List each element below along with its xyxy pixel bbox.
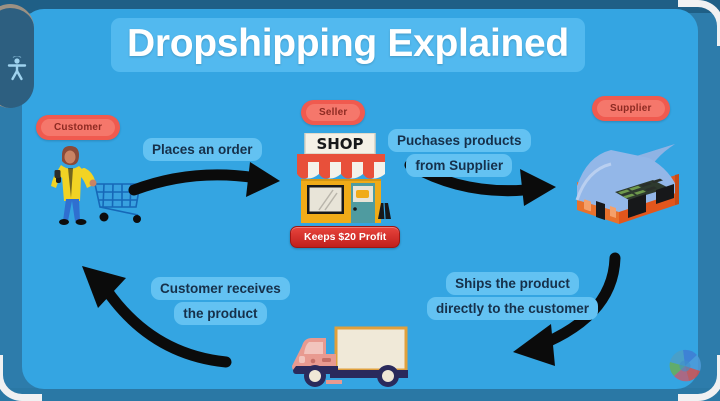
slide-stage: Dropshipping Explained Customer Seller S…: [0, 0, 720, 401]
accessibility-person-icon: [6, 56, 28, 82]
accessibility-panel[interactable]: [0, 4, 34, 108]
shopper-with-cart-illustration: [40, 137, 150, 227]
step-2-line-1: Puchases products: [388, 129, 531, 152]
step-label-customer-receives: Customer receives the product: [151, 276, 290, 326]
shop-sign-text: SHOP: [316, 135, 363, 153]
role-badge-seller: Seller: [301, 100, 365, 125]
step-2-line-2: from Supplier: [406, 154, 512, 177]
step-label-ships-the-product: Ships the product directly to the custom…: [427, 271, 598, 321]
pinwheel-aperture-logo[interactable]: [664, 345, 706, 387]
role-badge-seller-label: Seller: [306, 104, 360, 121]
role-badge-supplier-label: Supplier: [597, 100, 665, 117]
role-badge-customer-label: Customer: [41, 119, 115, 136]
step-label-purchases-products: Puchases products from Supplier: [388, 128, 531, 178]
role-badge-supplier: Supplier: [592, 96, 670, 121]
shop-storefront-illustration: SHOP: [289, 133, 395, 228]
step-3-line-2: directly to the customer: [427, 297, 598, 320]
step-3-line-1: Ships the product: [446, 272, 579, 295]
page-title: Dropshipping Explained: [111, 18, 585, 72]
delivery-truck-illustration: [278, 322, 410, 392]
profit-badge: Keeps $20 Profit: [290, 226, 400, 248]
step-1-line-1: Places an order: [143, 138, 262, 161]
step-4-line-1: Customer receives: [151, 277, 290, 300]
step-label-places-an-order: Places an order: [143, 137, 262, 162]
warehouse-illustration: [571, 138, 687, 224]
step-4-line-2: the product: [174, 302, 266, 325]
